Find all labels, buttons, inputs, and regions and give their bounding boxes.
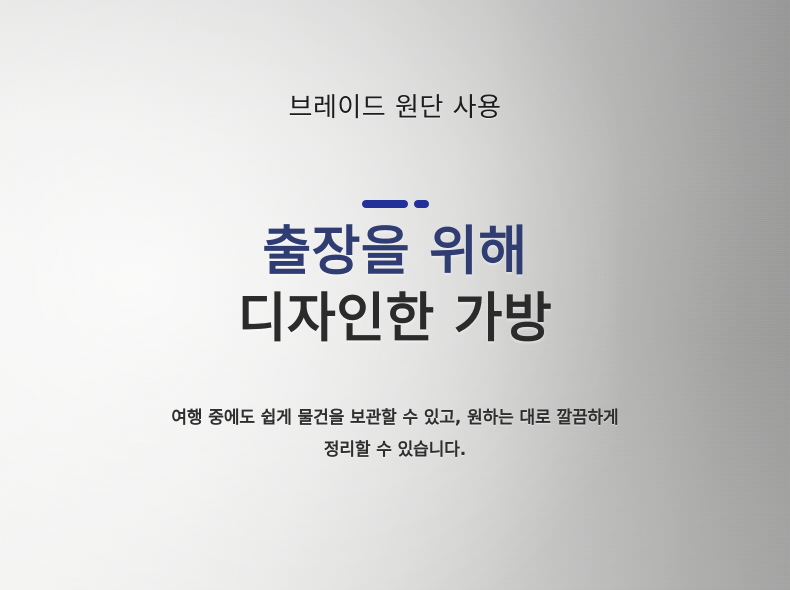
headline-line-2: 디자인한 가방 [238,288,553,351]
body-copy-block: 여행 중에도 쉽게 물건을 보관할 수 있고, 원하는 대로 깔끔하게 정리할 … [171,407,618,462]
headline-block: 출장을 위해 디자인한 가방 [238,221,553,350]
banner-content: 브레이드 원단 사용 출장을 위해 디자인한 가방 여행 중에도 쉽게 물건을 … [0,0,790,590]
body-copy-line-1: 여행 중에도 쉽게 물건을 보관할 수 있고, 원하는 대로 깔끔하게 [171,407,618,430]
headline-line-1: 출장을 위해 [262,221,527,284]
body-copy-line-2: 정리할 수 있습니다. [324,439,466,462]
divider-dash-icon [362,200,408,208]
eyebrow-heading: 브레이드 원단 사용 [289,93,502,124]
dash-dot-divider [362,200,429,208]
product-banner: 브레이드 원단 사용 출장을 위해 디자인한 가방 여행 중에도 쉽게 물건을 … [0,0,790,590]
divider-dot-icon [414,200,429,208]
